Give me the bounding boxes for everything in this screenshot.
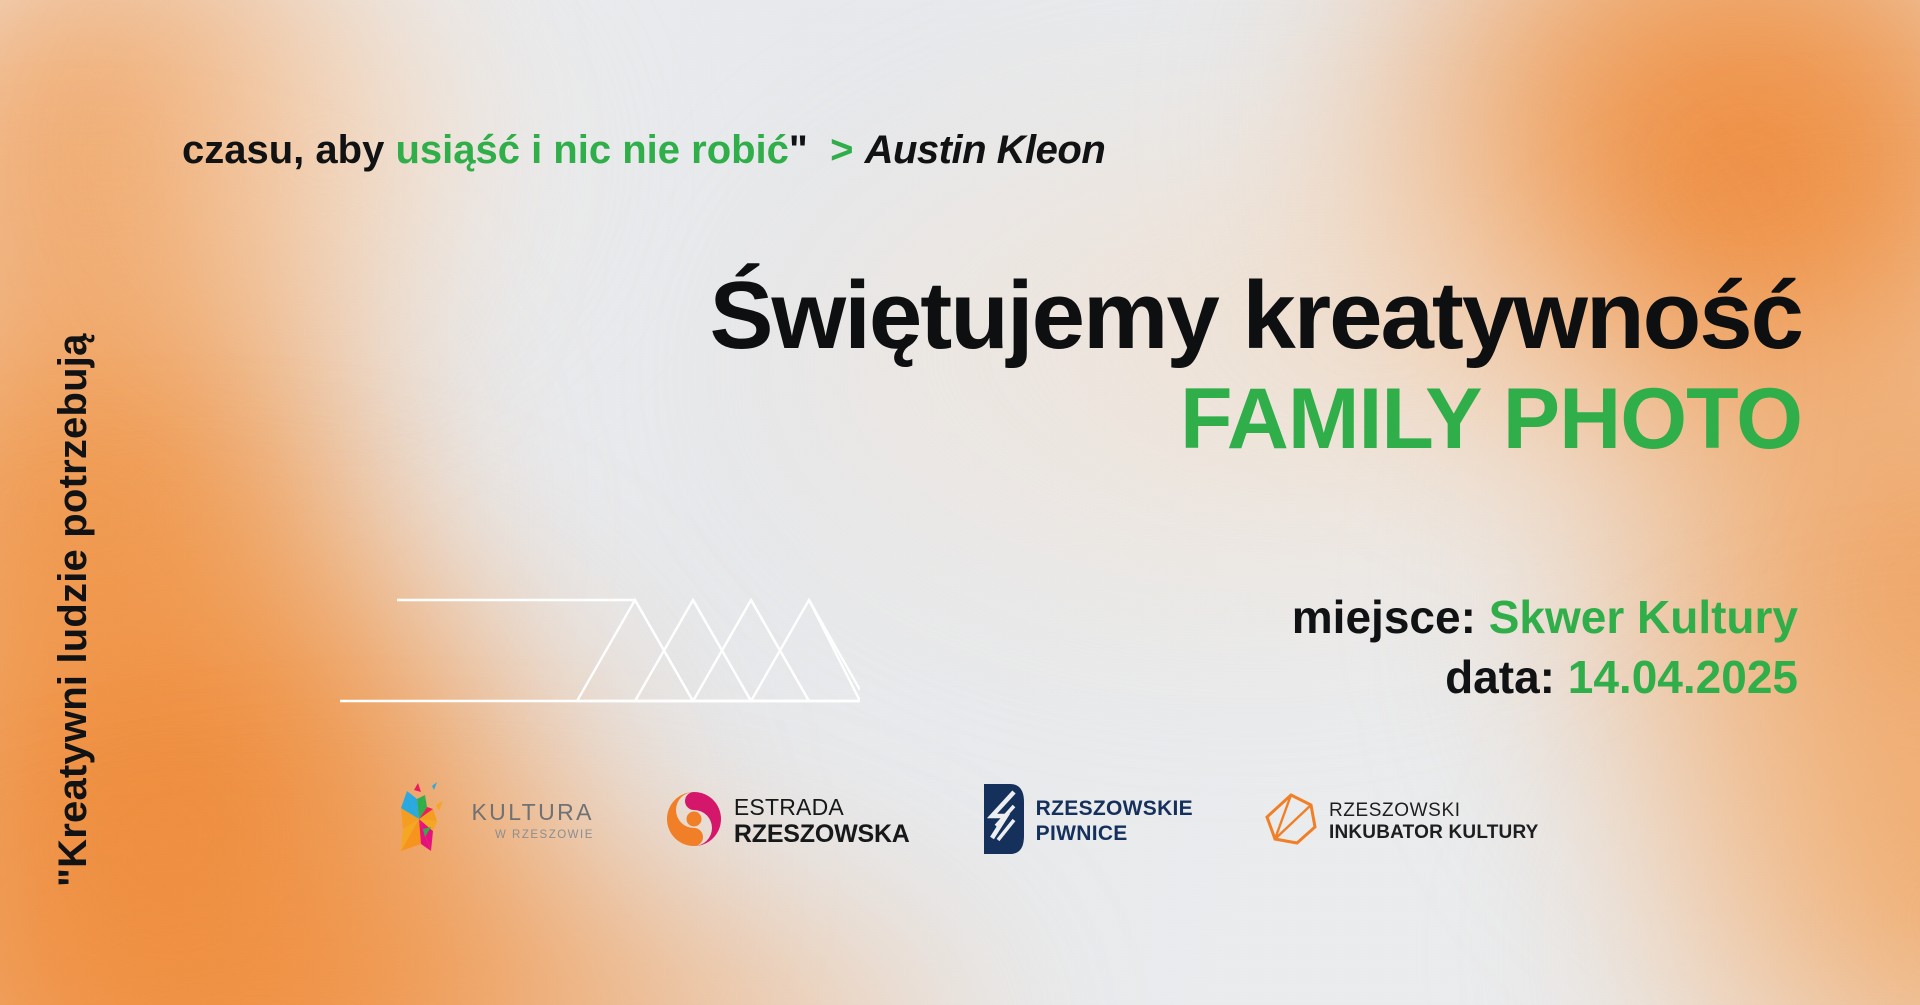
logo-kultura-line1: KULTURA — [471, 801, 593, 825]
detail-row-date: data: 14.04.2025 — [1292, 648, 1798, 708]
detail-label-date: data: — [1445, 651, 1568, 703]
decorative-triangles — [340, 588, 860, 713]
logo-kultura-line2: W RZESZOWIE — [471, 830, 593, 842]
logo-estrada-rzeszowska: ESTRADA RZESZOWSKA — [664, 789, 910, 854]
logo-inkubator-line1: RZESZOWSKI — [1329, 801, 1539, 821]
top-quote-closing-quote: " — [789, 128, 808, 172]
top-quote-author: Austin Kleon — [865, 128, 1106, 172]
estrada-circle-icon — [664, 789, 724, 854]
sponsor-logos: KULTURA W RZESZOWIE ESTRADA RZESZOWSKA — [0, 780, 1920, 863]
top-quote-line: czasu, aby usiąść i nic nie robić" > Aus… — [182, 128, 1105, 173]
logo-piwnice-line1: RZESZOWSKIE — [1036, 798, 1193, 820]
detail-label-place: miejsce: — [1292, 591, 1489, 643]
inkubator-hexagon-icon — [1263, 791, 1319, 852]
top-quote-highlight: usiąść i nic nie robić — [395, 128, 788, 172]
logo-rzeszowskie-piwnice: RZESZOWSKIE PIWNICE — [980, 780, 1193, 863]
event-details: miejsce: Skwer Kultury data: 14.04.2025 — [1292, 588, 1798, 708]
headline-block: Świętujemy kreatywność FAMILY PHOTO — [710, 268, 1802, 462]
logo-inkubator-text: RZESZOWSKI INKUBATOR KULTURY — [1329, 801, 1539, 843]
logo-kultura-w-rzeszowie: KULTURA W RZESZOWIE — [381, 781, 593, 862]
logo-estrada-text: ESTRADA RZESZOWSKA — [734, 796, 910, 847]
logo-inkubator-line2: INKUBATOR KULTURY — [1329, 823, 1539, 843]
detail-value-date: 14.04.2025 — [1568, 651, 1798, 703]
top-quote-arrow: > — [830, 128, 853, 172]
triangle-outline-graphic — [340, 588, 860, 713]
logo-kultura-text: KULTURA W RZESZOWIE — [471, 801, 593, 842]
pinwheel-icon — [381, 781, 461, 862]
page-title: Świętujemy kreatywność — [710, 268, 1802, 364]
logo-rzeszowski-inkubator-kultury: RZESZOWSKI INKUBATOR KULTURY — [1263, 791, 1539, 852]
detail-value-place: Skwer Kultury — [1489, 591, 1798, 643]
logo-estrada-line1: ESTRADA — [734, 796, 910, 820]
top-quote-lead: czasu, aby — [182, 128, 395, 172]
logo-piwnice-line2: PIWNICE — [1036, 823, 1193, 845]
page-subtitle: FAMILY PHOTO — [710, 376, 1802, 462]
piwnice-shield-icon — [980, 780, 1026, 863]
event-banner: "Kreatywni ludzie potrzebują czasu, aby … — [0, 0, 1920, 1005]
gradient-blob-bottom — [0, 860, 980, 1005]
logo-piwnice-text: RZESZOWSKIE PIWNICE — [1036, 798, 1193, 845]
detail-row-place: miejsce: Skwer Kultury — [1292, 588, 1798, 648]
logo-estrada-line2: RZESZOWSKA — [734, 821, 910, 847]
